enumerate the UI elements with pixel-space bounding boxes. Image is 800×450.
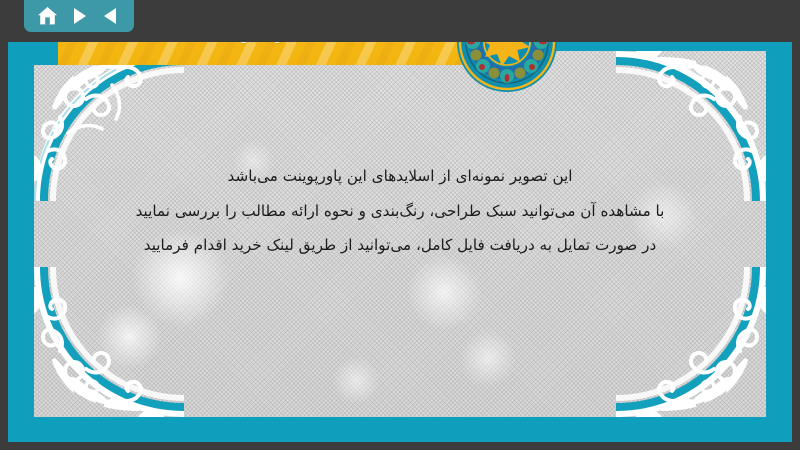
next-slide-button[interactable] [66,4,92,28]
presentation-slide: این تصویر نمونه‌ای از اسلایدهای این پاور… [8,25,792,443]
previous-slide-button[interactable] [97,4,123,28]
body-line: این تصویر نمونه‌ای از اسلایدهای این پاور… [74,159,726,194]
slide-body-text: این تصویر نمونه‌ای از اسلایدهای این پاور… [74,159,726,263]
arabesque-corner-icon [34,267,184,417]
window-chrome-left [0,0,8,450]
triangle-left-icon [102,7,119,25]
home-icon [37,6,58,26]
body-line: در صورت تمایل به دریافت فایل کامل، می‌تو… [74,228,726,263]
slide-viewer-stage: این تصویر نمونه‌ای از اسلایدهای این پاور… [0,0,800,450]
slide-content-area: این تصویر نمونه‌ای از اسلایدهای این پاور… [34,51,766,417]
arabesque-corner-icon [616,267,766,417]
window-chrome-right [792,0,800,450]
home-button[interactable] [35,4,61,28]
window-chrome-bottom [0,442,800,450]
triangle-right-icon [71,7,88,25]
slide-navigation-bar [24,0,134,32]
body-line: با مشاهده آن می‌توانید سبک طراحی، رنگ‌بن… [74,194,726,229]
